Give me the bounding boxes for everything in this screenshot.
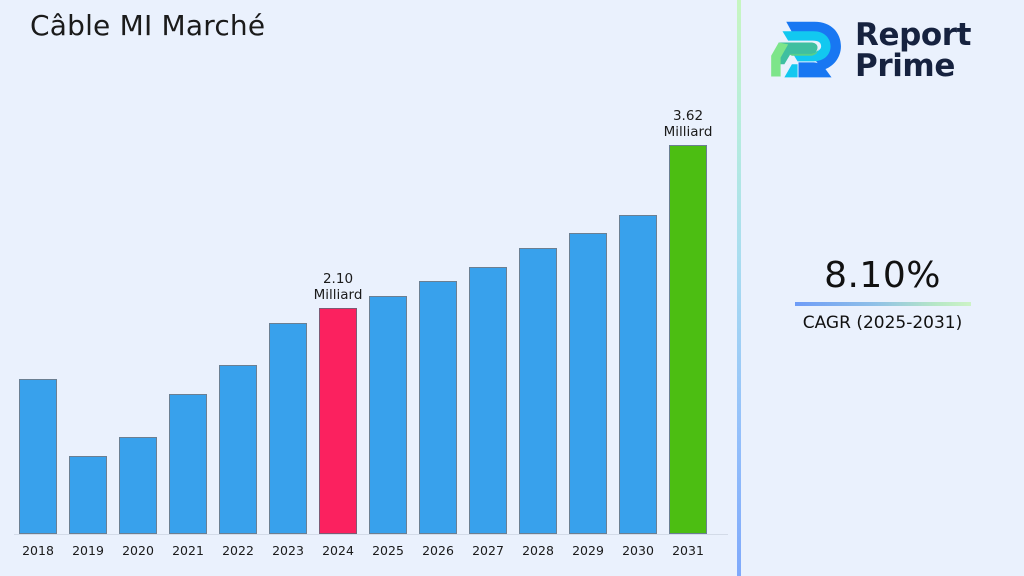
bar-2022[interactable] <box>219 365 257 534</box>
bar-2021[interactable] <box>169 394 207 534</box>
bar-2029[interactable] <box>569 233 607 534</box>
x-axis-label-2029: 2029 <box>560 543 616 558</box>
brand-logo-line1: Report <box>855 20 971 51</box>
chart-plot-area: 2.10 Milliard3.62 Milliard 2018201920202… <box>0 0 737 576</box>
x-axis-label-2028: 2028 <box>510 543 566 558</box>
report-prime-r-mark-icon <box>769 18 845 84</box>
bar-2018[interactable] <box>19 379 57 534</box>
cagr-block: 8.10% CAGR (2025-2031) <box>741 255 1024 333</box>
bar-2026[interactable] <box>419 281 457 534</box>
bar-2020[interactable] <box>119 437 157 534</box>
bar-2027[interactable] <box>469 267 507 534</box>
bar-2028[interactable] <box>519 248 557 534</box>
x-axis-label-2018: 2018 <box>10 543 66 558</box>
x-axis-label-2030: 2030 <box>610 543 666 558</box>
brand-logo: Report Prime <box>769 12 1009 90</box>
bar-2019[interactable] <box>69 456 107 534</box>
x-axis-label-2022: 2022 <box>210 543 266 558</box>
cagr-label: CAGR (2025-2031) <box>741 313 1024 333</box>
x-axis-label-2031: 2031 <box>660 543 716 558</box>
cagr-divider <box>795 302 971 306</box>
cagr-value: 8.10% <box>741 255 1024 296</box>
x-axis-label-2020: 2020 <box>110 543 166 558</box>
bar-2024[interactable] <box>319 308 357 534</box>
x-axis-label-2025: 2025 <box>360 543 416 558</box>
x-axis-label-2019: 2019 <box>60 543 116 558</box>
brand-logo-text: Report Prime <box>855 20 971 81</box>
bar-series: 2.10 Milliard3.62 Milliard <box>0 0 737 576</box>
side-panel: Report Prime 8.10% CAGR (2025-2031) <box>741 0 1024 576</box>
x-axis-label-2023: 2023 <box>260 543 316 558</box>
x-axis-label-2027: 2027 <box>460 543 516 558</box>
bar-2031[interactable] <box>669 145 707 534</box>
x-axis-label-2024: 2024 <box>310 543 366 558</box>
bar-2023[interactable] <box>269 323 307 534</box>
x-axis-label-2021: 2021 <box>160 543 216 558</box>
bar-value-label-2031: 3.62 Milliard <box>640 108 736 140</box>
brand-logo-line2: Prime <box>855 51 971 82</box>
x-axis-tick-labels: 2018201920202021202220232024202520262027… <box>0 543 737 565</box>
chart-page: Câble MI Marché 2.10 Milliard3.62 Millia… <box>0 0 1024 576</box>
bar-2030[interactable] <box>619 215 657 534</box>
bar-2025[interactable] <box>369 296 407 534</box>
x-axis-label-2026: 2026 <box>410 543 466 558</box>
